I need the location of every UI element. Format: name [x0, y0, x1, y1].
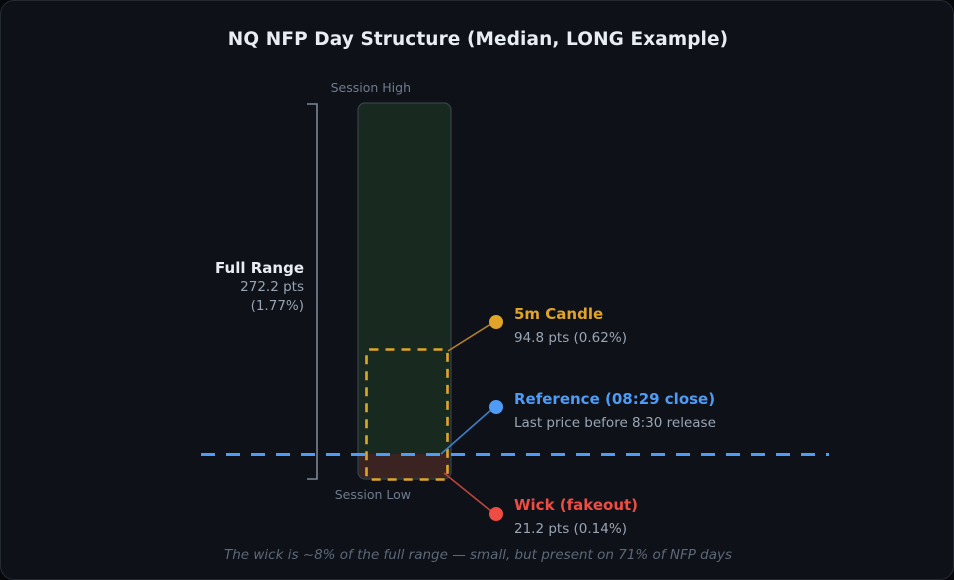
chart-graphics — [1, 1, 954, 580]
full-range-bracket — [307, 104, 317, 479]
annotation-5m-candle: 5m Candle 94.8 pts (0.62%) — [514, 305, 627, 348]
annotation-5m-candle-title: 5m Candle — [514, 305, 627, 324]
annotation-reference-description: Last price before 8:30 release — [514, 409, 716, 433]
annotation-wick-value: 21.2 pts (0.14%) — [514, 515, 638, 539]
annotation-5m-candle-value: 94.8 pts (0.62%) — [514, 324, 627, 348]
annotation-wick-title: Wick (fakeout) — [514, 496, 638, 515]
annotation-reference: Reference (08:29 close) Last price befor… — [514, 390, 716, 433]
wick-region — [359, 454, 450, 478]
chart-panel: NQ NFP Day Structure (Median, LONG Examp… — [0, 0, 954, 580]
full-range-bar — [358, 103, 451, 479]
candle-leader — [448, 315, 503, 351]
footer-note: The wick is ~8% of the full range — smal… — [1, 547, 954, 563]
annotation-reference-title: Reference (08:29 close) — [514, 390, 716, 409]
wick-leader — [444, 473, 503, 521]
annotation-wick: Wick (fakeout) 21.2 pts (0.14%) — [514, 496, 638, 539]
